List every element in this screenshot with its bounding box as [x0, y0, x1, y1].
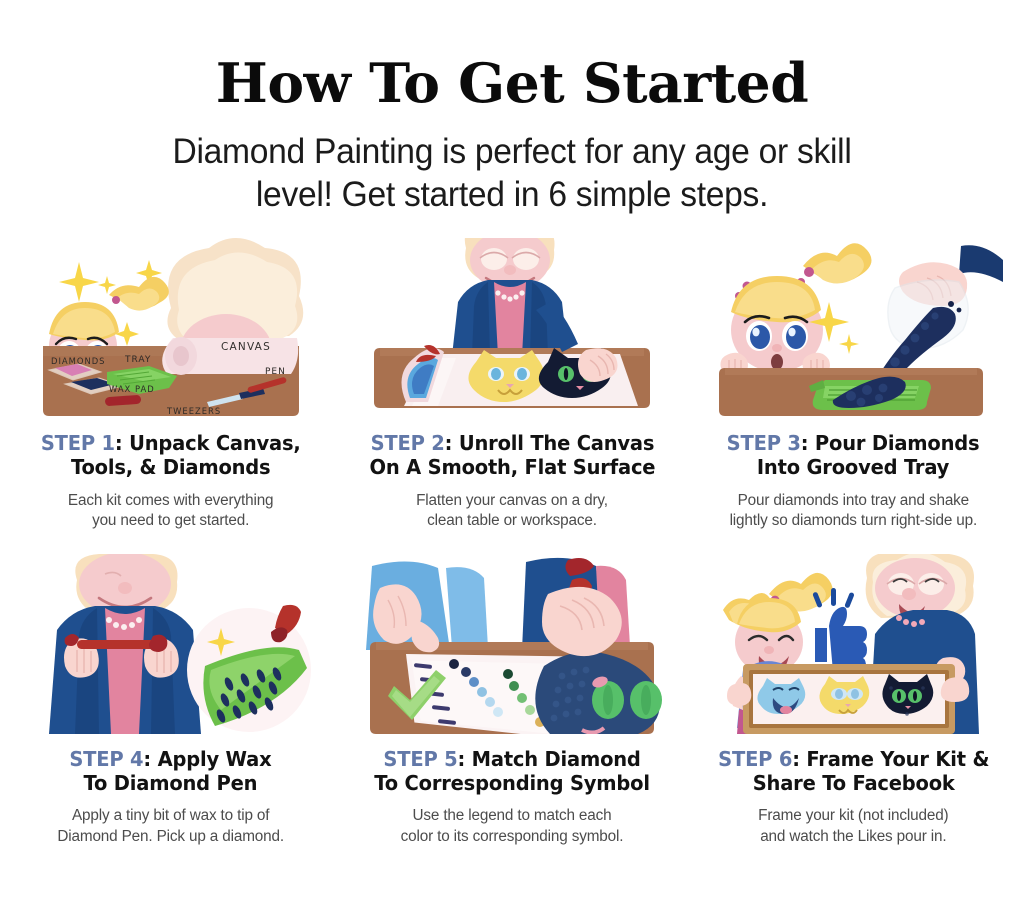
- header: How To Get Started Diamond Painting is p…: [0, 0, 1024, 217]
- step-5-title-line-2: To Corresponding Symbol: [374, 772, 650, 796]
- step-3-title-line-1: Pour Diamonds: [815, 431, 979, 455]
- step-4-illustration: [14, 554, 327, 734]
- step-6-description: Frame your kit (not included) and watch …: [758, 806, 948, 847]
- step-2-heading: STEP 2: Unroll The Canvas On A Smooth, F…: [369, 432, 655, 480]
- step-2-desc-line-1: Flatten your canvas on a dry,: [416, 491, 608, 512]
- step-4-desc-line-1: Apply a tiny bit of wax to tip of: [57, 806, 284, 827]
- grandmother-figure: [452, 238, 568, 356]
- step-3-description: Pour diamonds into tray and shake lightl…: [730, 491, 978, 532]
- step-1-colon: :: [115, 431, 123, 455]
- step-6-colon: :: [792, 747, 800, 771]
- steps-grid: CANVAS DIAMONDS: [0, 238, 1024, 848]
- step-6-heading: STEP 6: Frame Your Kit & Share To Facebo…: [718, 748, 989, 796]
- step-5-desc-line-1: Use the legend to match each: [401, 806, 624, 827]
- step-2-number: STEP 2: [370, 431, 444, 455]
- step-4-number: STEP 4: [70, 747, 144, 771]
- step-card-6: STEP 6: Frame Your Kit & Share To Facebo…: [683, 554, 1024, 848]
- art-label-tweezers: TWEEZERS: [166, 406, 221, 416]
- step-card-3: STEP 3: Pour Diamonds Into Grooved Tray …: [683, 238, 1024, 532]
- step-card-4: STEP 4: Apply Wax To Diamond Pen Apply a…: [0, 554, 341, 848]
- step-4-heading: STEP 4: Apply Wax To Diamond Pen: [70, 748, 272, 796]
- step-3-colon: :: [801, 431, 809, 455]
- subtitle-line-1: Diamond Painting is perfect for any age …: [20, 130, 1003, 173]
- step-5-heading: STEP 5: Match Diamond To Corresponding S…: [374, 748, 650, 796]
- step-card-2: STEP 2: Unroll The Canvas On A Smooth, F…: [341, 238, 682, 532]
- step-6-illustration: [697, 554, 1010, 734]
- step-5-number: STEP 5: [383, 747, 457, 771]
- art-label-diamonds: DIAMONDS: [51, 356, 106, 366]
- step-1-number: STEP 1: [41, 431, 115, 455]
- step-5-desc-line-2: color to its corresponding symbol.: [401, 827, 624, 848]
- step-4-colon: :: [144, 747, 152, 771]
- step-card-1: CANVAS DIAMONDS: [0, 238, 341, 532]
- step-3-desc-line-1: Pour diamonds into tray and shake: [730, 491, 978, 512]
- step-2-desc-line-2: clean table or workspace.: [416, 511, 608, 532]
- infographic-page: How To Get Started Diamond Painting is p…: [0, 0, 1024, 922]
- art-label-tray: TRAY: [124, 355, 151, 365]
- step-card-5: STEP 5: Match Diamond To Corresponding S…: [341, 554, 682, 848]
- step-3-title-line-2: Into Grooved Tray: [727, 456, 980, 480]
- step-6-desc-line-2: and watch the Likes pour in.: [758, 827, 948, 848]
- page-subtitle: Diamond Painting is perfect for any age …: [20, 130, 1003, 217]
- open-mouth: [771, 354, 783, 370]
- step-6-number: STEP 6: [718, 747, 792, 771]
- art-label-wax-pad: WAX PAD: [109, 384, 155, 394]
- zoom-inset: [187, 605, 311, 732]
- framed-artwork: [743, 664, 955, 734]
- step-6-title-line-2: Share To Facebook: [718, 772, 989, 796]
- page-title: How To Get Started: [0, 56, 1024, 110]
- step-4-desc-line-2: Diamond Pen. Pick up a diamond.: [57, 827, 284, 848]
- step-4-title-line-2: To Diamond Pen: [70, 772, 272, 796]
- step-2-title-line-1: Unroll The Canvas: [458, 431, 653, 455]
- step-3-illustration: [697, 238, 1010, 418]
- step-5-colon: :: [457, 747, 465, 771]
- subtitle-line-2: level! Get started in 6 simple steps.: [20, 173, 1003, 216]
- step-1-illustration: CANVAS DIAMONDS: [14, 238, 327, 418]
- step-3-desc-line-2: lightly so diamonds turn right-side up.: [730, 511, 978, 532]
- surprised-girl: [721, 243, 872, 374]
- step-2-description: Flatten your canvas on a dry, clean tabl…: [416, 491, 608, 532]
- step-6-desc-line-1: Frame your kit (not included): [758, 806, 948, 827]
- step-1-title-line-1: Unpack Canvas,: [129, 431, 301, 455]
- art-label-pen: PEN: [265, 367, 286, 377]
- step-4-description: Apply a tiny bit of wax to tip of Diamon…: [57, 806, 284, 847]
- step-2-colon: :: [444, 431, 452, 455]
- step-1-title-line-2: Tools, & Diamonds: [41, 456, 301, 480]
- girl-hand: [727, 683, 751, 706]
- step-4-title-line-1: Apply Wax: [158, 747, 272, 771]
- step-5-title-line-1: Match Diamond: [472, 747, 641, 771]
- step-5-illustration: [355, 554, 668, 734]
- step-6-title-line-1: Frame Your Kit &: [806, 747, 989, 771]
- step-2-illustration: [355, 238, 668, 418]
- step-2-title-line-2: On A Smooth, Flat Surface: [369, 456, 655, 480]
- step-1-heading: STEP 1: Unpack Canvas, Tools, & Diamonds: [41, 432, 301, 480]
- step-3-heading: STEP 3: Pour Diamonds Into Grooved Tray: [727, 432, 980, 480]
- step-1-desc-line-2: you need to get started.: [68, 511, 274, 532]
- step-5-description: Use the legend to match each color to it…: [401, 806, 624, 847]
- step-1-desc-line-1: Each kit comes with everything: [68, 491, 274, 512]
- step-1-description: Each kit comes with everything you need …: [68, 491, 274, 532]
- step-3-number: STEP 3: [727, 431, 801, 455]
- facebook-thumbs-up-icon: [812, 588, 867, 672]
- art-label-canvas: CANVAS: [221, 341, 271, 353]
